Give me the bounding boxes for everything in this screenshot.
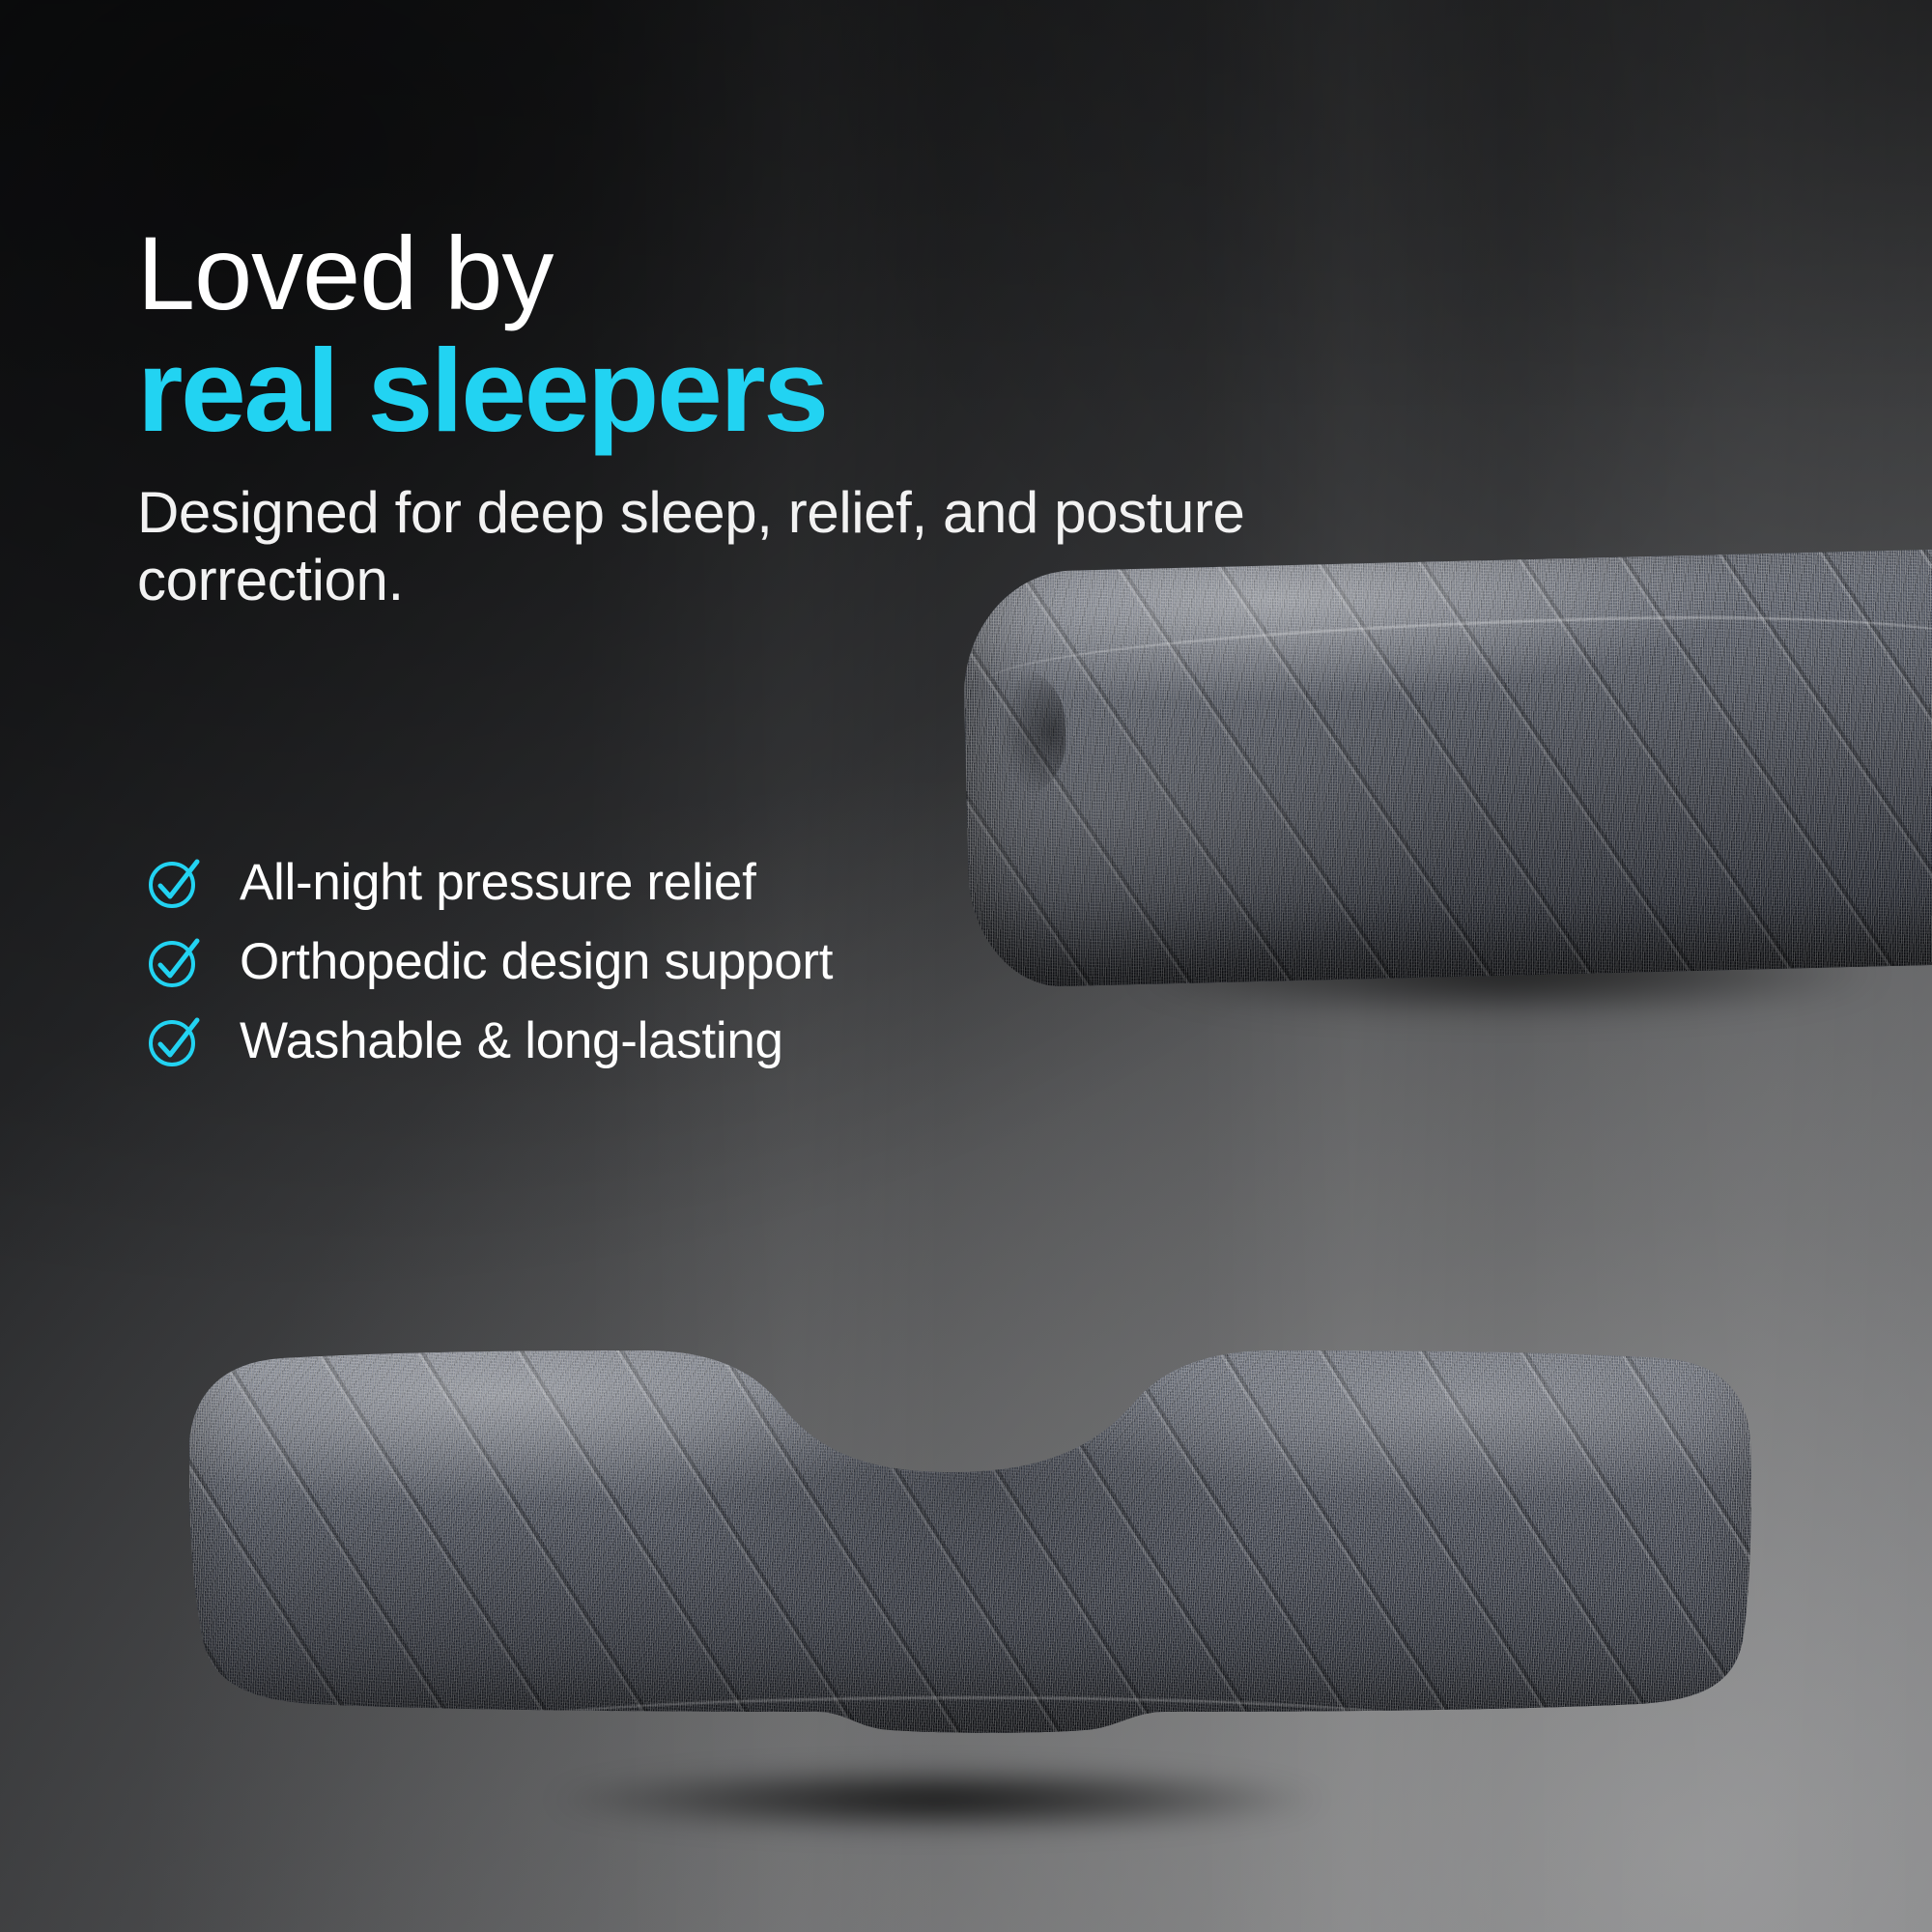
check-circle-icon	[145, 933, 203, 991]
promo-banner: Loved by real sleepers Designed for deep…	[0, 0, 1932, 1932]
check-circle-icon	[145, 854, 203, 912]
bottom-pillow-highlight	[189, 1349, 1752, 1735]
product-image-top	[966, 560, 1932, 976]
check-circle-icon	[145, 1012, 203, 1070]
bottom-pillow-shadow	[425, 1758, 1449, 1841]
feature-label: All-night pressure relief	[240, 855, 756, 911]
headline-line-2-accent: real sleepers	[137, 328, 1296, 452]
feature-list: All-night pressure relief Orthopedic des…	[145, 854, 833, 1070]
bottom-pillow-body	[189, 1349, 1752, 1735]
subheadline: Designed for deep sleep, relief, and pos…	[137, 479, 1272, 613]
list-item: All-night pressure relief	[145, 854, 833, 912]
list-item: Orthopedic design support	[145, 933, 833, 991]
hero-copy: Loved by real sleepers Designed for deep…	[137, 220, 1296, 613]
list-item: Washable & long-lasting	[145, 1012, 833, 1070]
product-image-bottom	[189, 1349, 1752, 1735]
feature-label: Orthopedic design support	[240, 934, 833, 990]
headline-line-1: Loved by	[137, 220, 1296, 327]
feature-label: Washable & long-lasting	[240, 1013, 783, 1069]
